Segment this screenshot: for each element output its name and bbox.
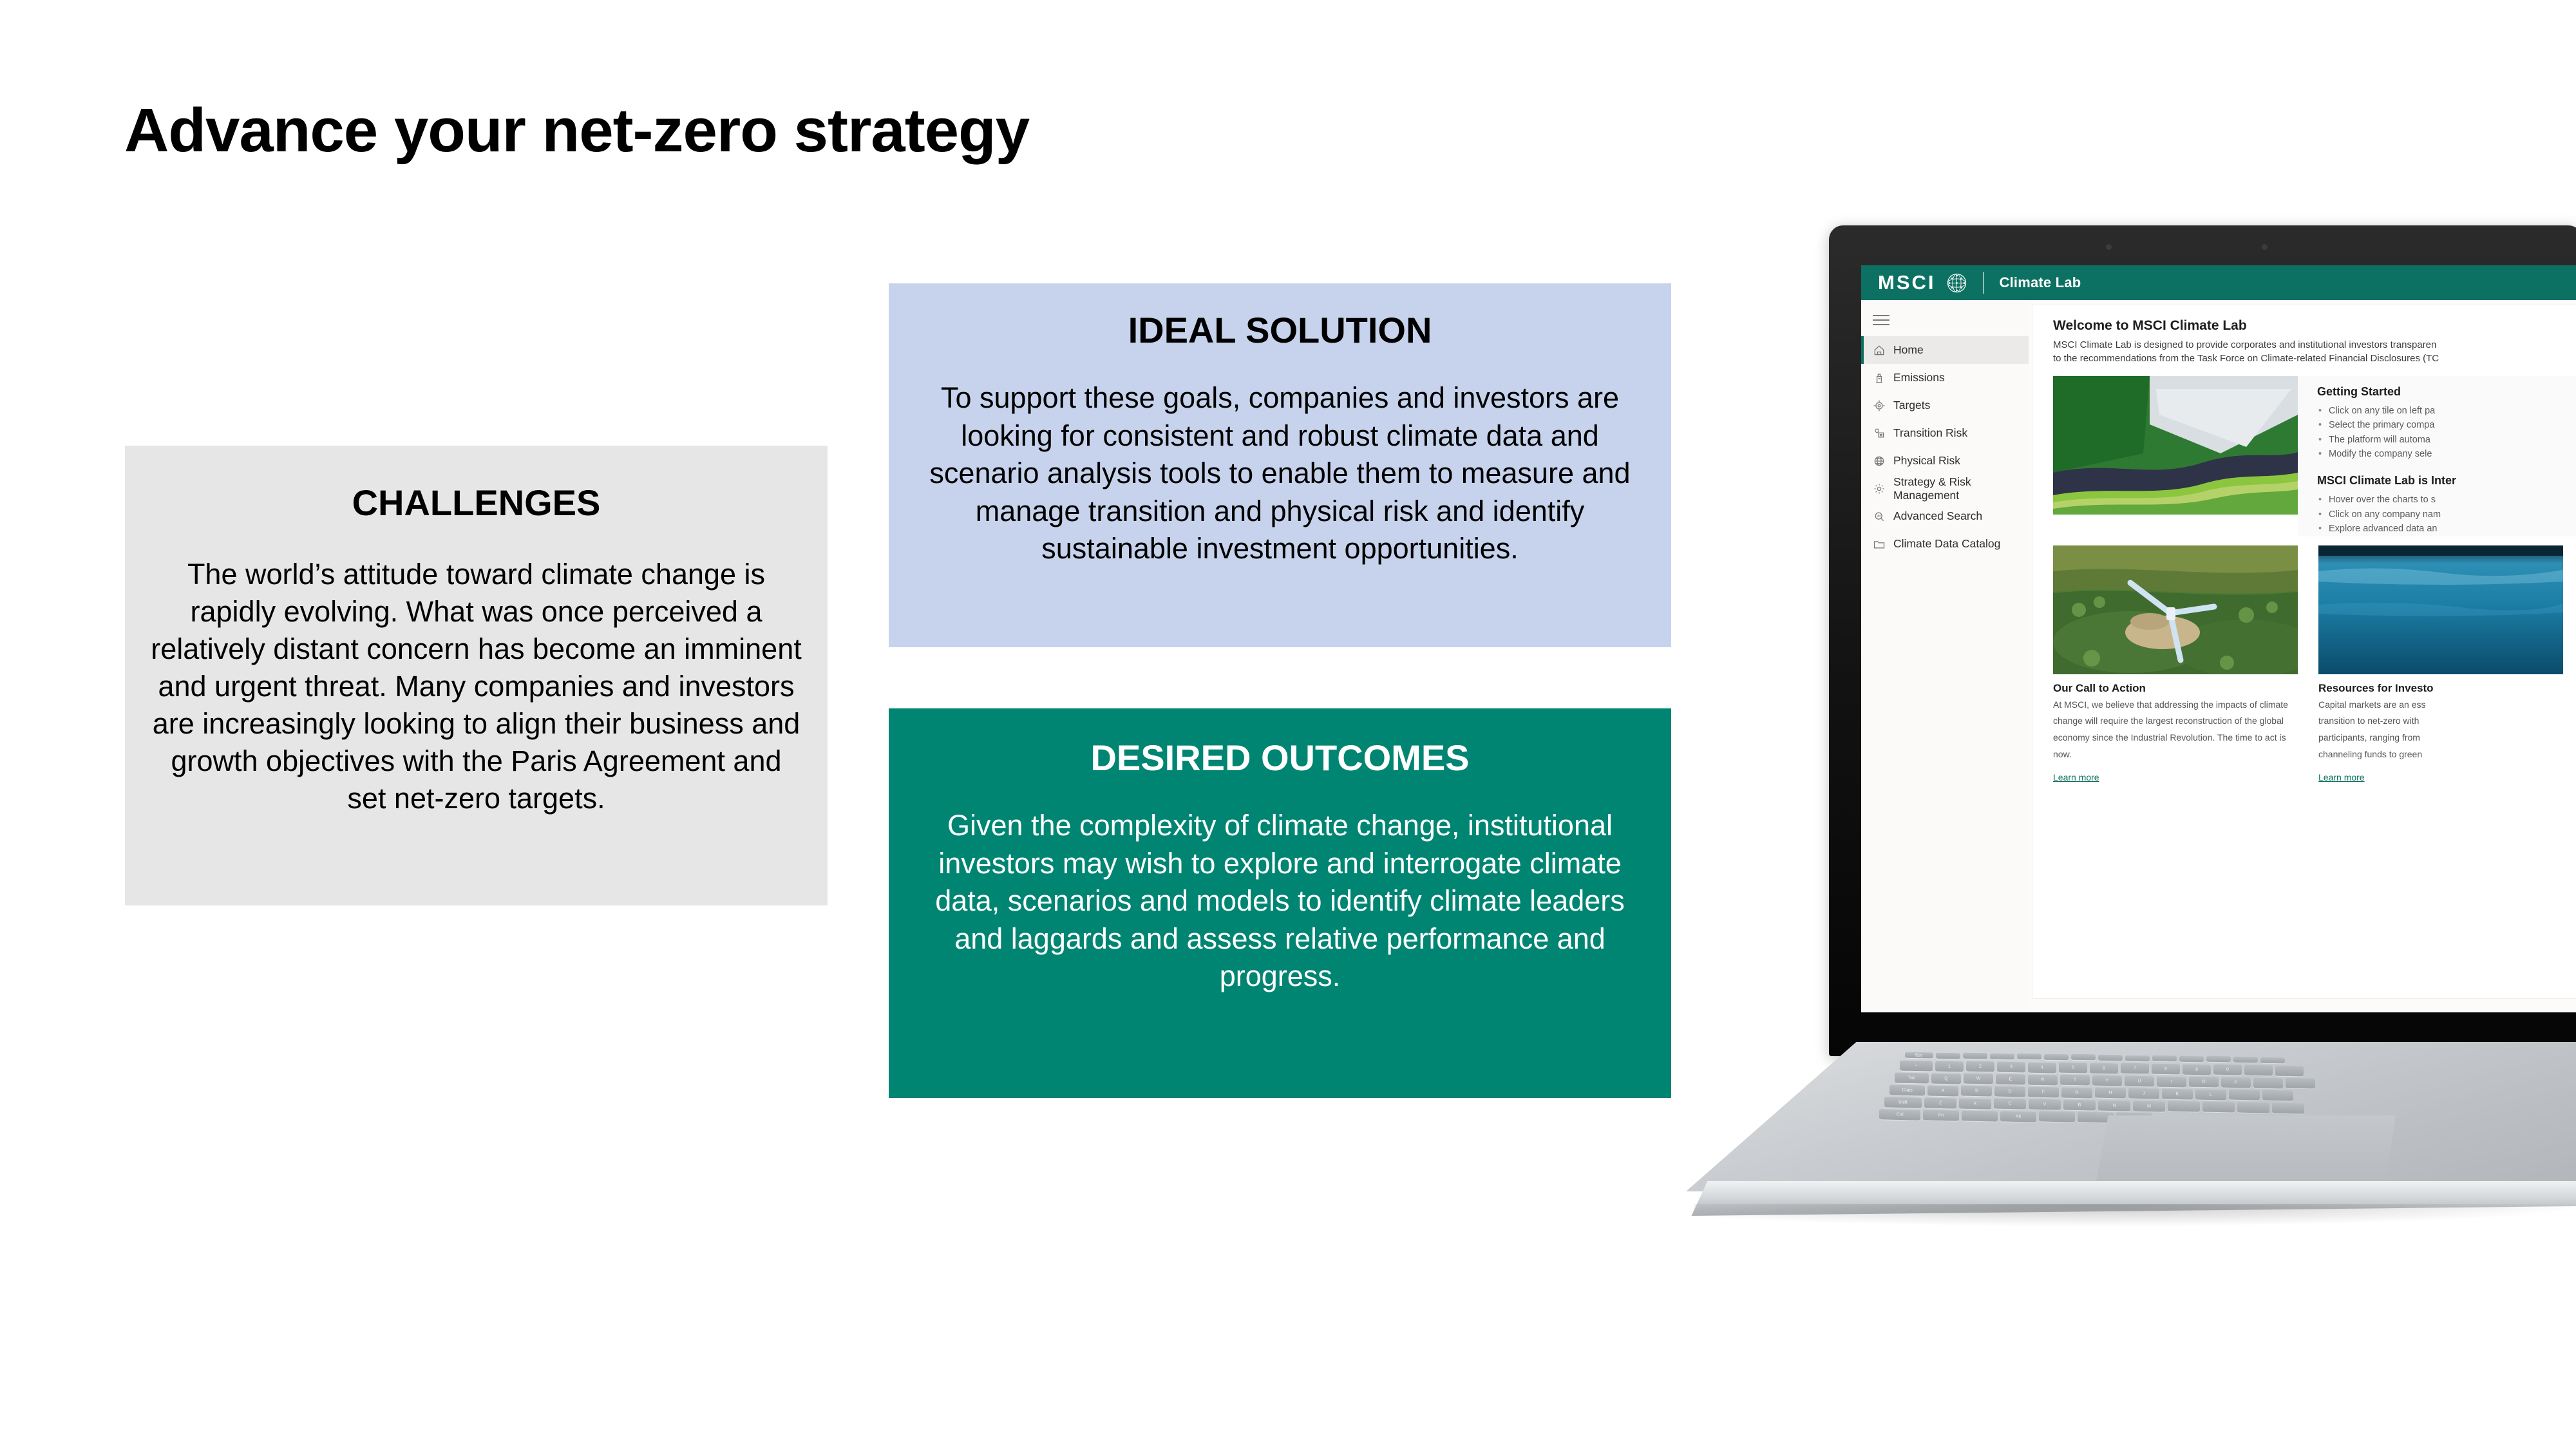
- app-header: MSCI Climate Lab: [1861, 265, 2576, 300]
- camera-dot-right-icon: [2262, 244, 2268, 250]
- interactive-bullet: Hover over the charts to s: [2317, 493, 2576, 507]
- wind-turbine-aerial-photo: [2053, 545, 2298, 674]
- card-line: channeling funds to green: [2318, 748, 2563, 761]
- hamburger-icon[interactable]: [1861, 304, 2029, 336]
- keyboard-key[interactable]: 2: [1966, 1061, 1994, 1072]
- keyboard-key[interactable]: K: [2162, 1088, 2193, 1099]
- search-chart-icon: [1873, 510, 1886, 523]
- getting-started-bullet: Modify the company sele: [2317, 447, 2576, 461]
- keyboard-key[interactable]: J: [2128, 1088, 2159, 1099]
- desired-outcomes-heading: DESIRED OUTCOMES: [1090, 737, 1469, 779]
- keyboard-key[interactable]: X: [1959, 1098, 1991, 1109]
- sidebar-item-emissions[interactable]: Emissions: [1861, 364, 2029, 392]
- keyboard-key[interactable]: U: [2125, 1075, 2154, 1086]
- keyboard-key[interactable]: B: [2063, 1099, 2096, 1110]
- card-line: transition to net-zero with: [2318, 714, 2563, 728]
- globe-grid-icon: [1873, 455, 1886, 468]
- card-line: Capital markets are an ess: [2318, 698, 2563, 712]
- gear-icon: [1873, 482, 1886, 495]
- keyboard-key[interactable]: [2152, 1056, 2177, 1062]
- page-title: Advance your net-zero strategy: [124, 95, 1029, 166]
- challenges-body: The world’s attitude toward climate chan…: [148, 556, 804, 817]
- learn-more-link[interactable]: Learn more: [2053, 772, 2099, 782]
- farmland-river-aerial-photo: [2053, 376, 2298, 515]
- getting-started-bullet: Click on any tile on left pa: [2317, 404, 2576, 418]
- card-our-call-to-action: Our Call to Action At MSCI, we believe t…: [2053, 545, 2298, 784]
- keyboard-key[interactable]: [1962, 1110, 1998, 1121]
- getting-started-bullet: Select the primary compa: [2317, 418, 2576, 432]
- keyboard-key[interactable]: [2237, 1102, 2269, 1113]
- keyboard-key[interactable]: F: [2028, 1086, 2059, 1097]
- keyboard-key[interactable]: Alt: [2000, 1111, 2036, 1122]
- msci-globe-icon: [1946, 272, 1967, 294]
- keyboard-key[interactable]: A: [1927, 1085, 1958, 1096]
- interactive-bullet: Click on any company nam: [2317, 507, 2576, 522]
- desired-outcomes-box: DESIRED OUTCOMES Given the complexity of…: [889, 708, 1671, 1098]
- keyboard-key[interactable]: 6: [2090, 1063, 2118, 1074]
- keyboard-key[interactable]: C: [1994, 1099, 2026, 1110]
- keyboard-key[interactable]: 8: [2152, 1064, 2180, 1075]
- card-line: economy since the Industrial Revolution.…: [2053, 731, 2298, 744]
- sidebar: Home Emissions Targets: [1861, 300, 2029, 1012]
- getting-started-panel: Getting Started Click on any tile on lef…: [2298, 376, 2576, 536]
- sidebar-item-targets[interactable]: Targets: [1861, 392, 2029, 419]
- keyboard-key[interactable]: S: [1961, 1086, 1992, 1097]
- keyboard-key[interactable]: ~: [1900, 1061, 1933, 1072]
- slide-canvas: Advance your net-zero strategy CHALLENGE…: [0, 0, 2576, 1449]
- home-icon: [1873, 344, 1886, 357]
- keyboard-key[interactable]: 5: [2059, 1063, 2087, 1074]
- main-content-pane: Welcome to MSCI Climate Lab MSCI Climate…: [2032, 305, 2576, 998]
- card-title: Our Call to Action: [2053, 682, 2298, 695]
- keyboard-key[interactable]: [2125, 1055, 2150, 1061]
- keyboard-key[interactable]: Ctrl: [1879, 1109, 1920, 1121]
- keyboard-key[interactable]: Fn: [1923, 1110, 1959, 1121]
- keyboard-key[interactable]: [2229, 1090, 2260, 1101]
- keyboard-key[interactable]: [2179, 1056, 2204, 1062]
- keyboard-key[interactable]: [2206, 1056, 2231, 1063]
- keyboard-key[interactable]: R: [2028, 1074, 2058, 1085]
- keyboard-key[interactable]: Q: [1931, 1073, 1961, 1084]
- keyboard-key[interactable]: Y: [2092, 1075, 2122, 1086]
- keyboard-key[interactable]: O: [2189, 1077, 2219, 1088]
- interactive-heading: MSCI Climate Lab is Inter: [2317, 474, 2576, 488]
- card-line: participants, ranging from: [2318, 731, 2563, 744]
- transition-risk-icon: [1873, 427, 1886, 440]
- sidebar-item-label: Emissions: [1893, 371, 1945, 384]
- keyboard-key[interactable]: [2272, 1103, 2304, 1113]
- cards-row: Our Call to Action At MSCI, we believe t…: [2053, 545, 2576, 784]
- keyboard-key[interactable]: [2244, 1065, 2273, 1076]
- keyboard-key[interactable]: 7: [2121, 1063, 2149, 1074]
- header-divider: [1983, 272, 1984, 294]
- keyboard-key[interactable]: G: [2061, 1087, 2092, 1098]
- sidebar-item-label: Climate Data Catalog: [1893, 537, 2000, 551]
- hero-row: Getting Started Click on any tile on lef…: [2053, 376, 2576, 536]
- keyboard-key[interactable]: [2071, 1054, 2096, 1061]
- card-line: change will require the largest reconstr…: [2053, 714, 2298, 728]
- ideal-solution-box: IDEAL SOLUTION To support these goals, c…: [889, 283, 1671, 647]
- target-icon: [1873, 399, 1886, 412]
- welcome-title: Welcome to MSCI Climate Lab: [2053, 318, 2576, 334]
- factory-icon: [1873, 372, 1886, 384]
- sidebar-item-label: Targets: [1893, 399, 1930, 412]
- card-line: At MSCI, we believe that addressing the …: [2053, 698, 2298, 712]
- keyboard-key[interactable]: [2233, 1057, 2258, 1063]
- keyboard-key[interactable]: [1963, 1053, 1987, 1059]
- keyboard-key[interactable]: N: [2098, 1100, 2130, 1111]
- sidebar-item-label: Transition Risk: [1893, 426, 1967, 440]
- sidebar-item-label: Strategy & Risk Management: [1893, 475, 2029, 502]
- ideal-solution-heading: IDEAL SOLUTION: [1128, 309, 1432, 351]
- challenges-heading: CHALLENGES: [352, 482, 601, 524]
- keyboard-key[interactable]: [2017, 1054, 2041, 1060]
- sidebar-item-advanced-search[interactable]: Advanced Search: [1861, 502, 2029, 530]
- msci-wordmark: MSCI: [1878, 271, 1936, 294]
- sidebar-item-transition-risk[interactable]: Transition Risk: [1861, 419, 2029, 447]
- keyboard-key[interactable]: [2168, 1101, 2200, 1112]
- sidebar-item-physical-risk[interactable]: Physical Risk: [1861, 447, 2029, 475]
- sidebar-item-strategy-risk-management[interactable]: Strategy & Risk Management: [1861, 475, 2029, 502]
- desired-outcomes-body: Given the complexity of climate change, …: [912, 807, 1648, 996]
- ocean-aerial-photo: [2318, 545, 2563, 674]
- keyboard-key[interactable]: I: [2157, 1076, 2186, 1087]
- sidebar-item-home[interactable]: Home: [1861, 336, 2029, 364]
- keyboard-key[interactable]: [2044, 1054, 2069, 1061]
- keyboard-key[interactable]: 0: [2213, 1065, 2242, 1075]
- keyboard-key[interactable]: 9: [2183, 1064, 2211, 1075]
- keyboard-key[interactable]: [2262, 1090, 2293, 1101]
- keyboard-key[interactable]: D: [1994, 1086, 2025, 1097]
- keyboard-key[interactable]: M: [2133, 1101, 2165, 1112]
- keyboard-key[interactable]: Esc: [1905, 1052, 1933, 1059]
- keyboard-key[interactable]: P: [2221, 1077, 2251, 1088]
- keyboard-key[interactable]: Caps: [1889, 1084, 1925, 1095]
- keyboard-key[interactable]: L: [2195, 1089, 2226, 1100]
- laptop-screen: MSCI Climate Lab: [1861, 265, 2576, 1012]
- keyboard-key[interactable]: [2202, 1102, 2235, 1113]
- card-title: Resources for Investo: [2318, 682, 2563, 695]
- interactive-bullet: Explore advanced data an: [2317, 522, 2576, 536]
- keyboard-key[interactable]: [2039, 1112, 2075, 1122]
- keyboard-key[interactable]: [2253, 1077, 2283, 1088]
- sidebar-item-label: Physical Risk: [1893, 454, 1960, 468]
- sidebar-item-climate-data-catalog[interactable]: Climate Data Catalog: [1861, 530, 2029, 558]
- app-product-name: Climate Lab: [2000, 274, 2081, 291]
- app-body: Home Emissions Targets: [1861, 300, 2576, 1012]
- getting-started-bullet: The platform will automa: [2317, 433, 2576, 447]
- keyboard-key[interactable]: 1: [1935, 1061, 1964, 1072]
- getting-started-heading: Getting Started: [2317, 385, 2576, 399]
- keyboard-key[interactable]: [2275, 1065, 2304, 1076]
- welcome-paragraph-line-2: to the recommendations from the Task For…: [2053, 352, 2576, 365]
- keyboard-key[interactable]: [1936, 1052, 1960, 1059]
- ideal-solution-body: To support these goals, companies and in…: [911, 379, 1649, 568]
- keyboard-key[interactable]: [2260, 1057, 2285, 1063]
- keyboard-key[interactable]: [1990, 1053, 2014, 1059]
- keyboard-key[interactable]: [2098, 1055, 2123, 1061]
- keyboard-key[interactable]: 4: [2028, 1062, 2056, 1073]
- keyboard-key[interactable]: V: [2029, 1099, 2061, 1110]
- laptop-drop-shadow: [1694, 1204, 2576, 1226]
- keyboard-key[interactable]: W: [1964, 1074, 1993, 1084]
- keyboard-key[interactable]: [2286, 1078, 2315, 1089]
- card-line: now.: [2053, 748, 2298, 761]
- sidebar-item-label: Advanced Search: [1893, 509, 1982, 523]
- keyboard-key[interactable]: H: [2095, 1088, 2126, 1099]
- laptop-base: Esc~1234567890TabQWERTYUIOPCapsASDFGHJKL…: [1668, 1042, 2576, 1236]
- keyboard-key[interactable]: 3: [1997, 1061, 2025, 1072]
- keyboard-key[interactable]: Tab: [1895, 1072, 1929, 1083]
- laptop-mockup: MSCI Climate Lab: [1668, 225, 2576, 1236]
- folder-icon: [1873, 538, 1886, 551]
- keyboard-key[interactable]: T: [2060, 1075, 2090, 1086]
- camera-dot-left-icon: [2106, 244, 2112, 250]
- keyboard-key[interactable]: Z: [1924, 1097, 1956, 1108]
- learn-more-link[interactable]: Learn more: [2318, 772, 2365, 782]
- challenges-box: CHALLENGES The world’s attitude toward c…: [125, 446, 828, 905]
- sidebar-item-label: Home: [1893, 343, 1924, 357]
- card-resources-for-investors: Resources for Investo Capital markets ar…: [2318, 545, 2563, 784]
- welcome-paragraph-line-1: MSCI Climate Lab is designed to provide …: [2053, 338, 2576, 352]
- keyboard-key[interactable]: Shift: [1884, 1097, 1922, 1108]
- keyboard-key[interactable]: E: [1996, 1074, 2025, 1085]
